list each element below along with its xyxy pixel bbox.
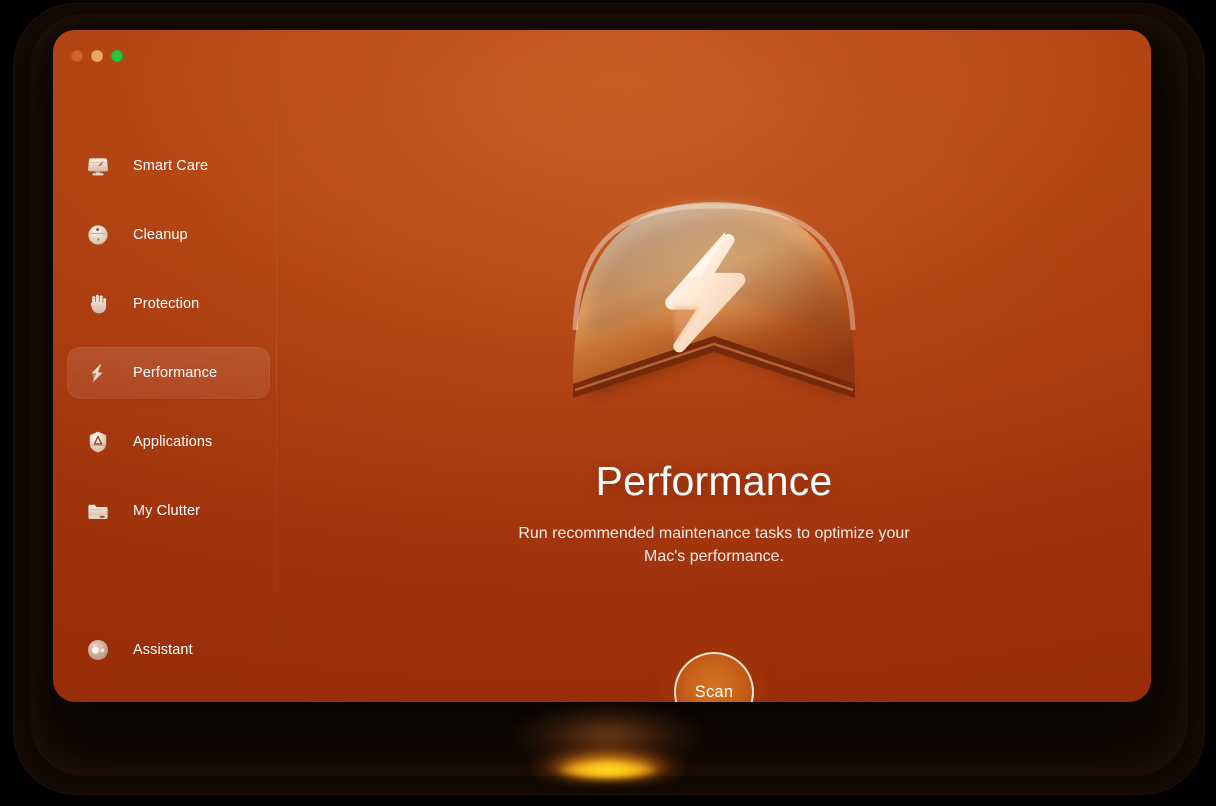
sidebar-item-cleanup[interactable]: Cleanup — [67, 209, 270, 261]
zoom-button[interactable] — [111, 50, 123, 62]
scan-button[interactable]: Scan — [674, 652, 754, 702]
main-content: Performance Run recommended maintenance … — [277, 30, 1151, 702]
sidebar-item-protection[interactable]: Protection — [67, 278, 270, 330]
broom-icon — [83, 220, 113, 250]
window-controls — [71, 50, 123, 62]
scan-button-container: Scan — [674, 652, 754, 702]
assistant-orb-icon — [83, 635, 113, 665]
sidebar-item-label: Smart Care — [133, 158, 208, 174]
monitor-icon — [83, 151, 113, 181]
sidebar-divider — [276, 70, 277, 662]
lightning-icon — [83, 358, 113, 388]
minimize-button[interactable] — [91, 50, 103, 62]
sidebar-secondary-nav: Assistant — [67, 624, 270, 676]
app-box-icon — [83, 427, 113, 457]
sidebar: Smart Care — [53, 30, 277, 702]
folder-icon — [83, 496, 113, 526]
sidebar-item-label: My Clutter — [133, 503, 200, 519]
screen: Smart Care — [0, 0, 1216, 806]
performance-shield-bolt-icon — [549, 140, 879, 420]
sidebar-item-label: Performance — [133, 365, 217, 381]
sidebar-item-smart-care[interactable]: Smart Care — [67, 140, 270, 192]
sidebar-item-label: Protection — [133, 296, 199, 312]
sidebar-item-label: Cleanup — [133, 227, 188, 243]
app-window: Smart Care — [53, 30, 1151, 702]
hand-icon — [83, 289, 113, 319]
close-button[interactable] — [71, 50, 83, 62]
sidebar-item-performance[interactable]: Performance — [67, 347, 270, 399]
sidebar-item-label: Applications — [133, 434, 212, 450]
sidebar-item-applications[interactable]: Applications — [67, 416, 270, 468]
page-subtitle: Run recommended maintenance tasks to opt… — [499, 523, 929, 568]
sidebar-primary-nav: Smart Care — [67, 140, 270, 537]
sidebar-item-label: Assistant — [133, 642, 193, 658]
page-title: Performance — [277, 458, 1151, 505]
sidebar-item-my-clutter[interactable]: My Clutter — [67, 485, 270, 537]
sidebar-item-assistant[interactable]: Assistant — [67, 624, 270, 676]
